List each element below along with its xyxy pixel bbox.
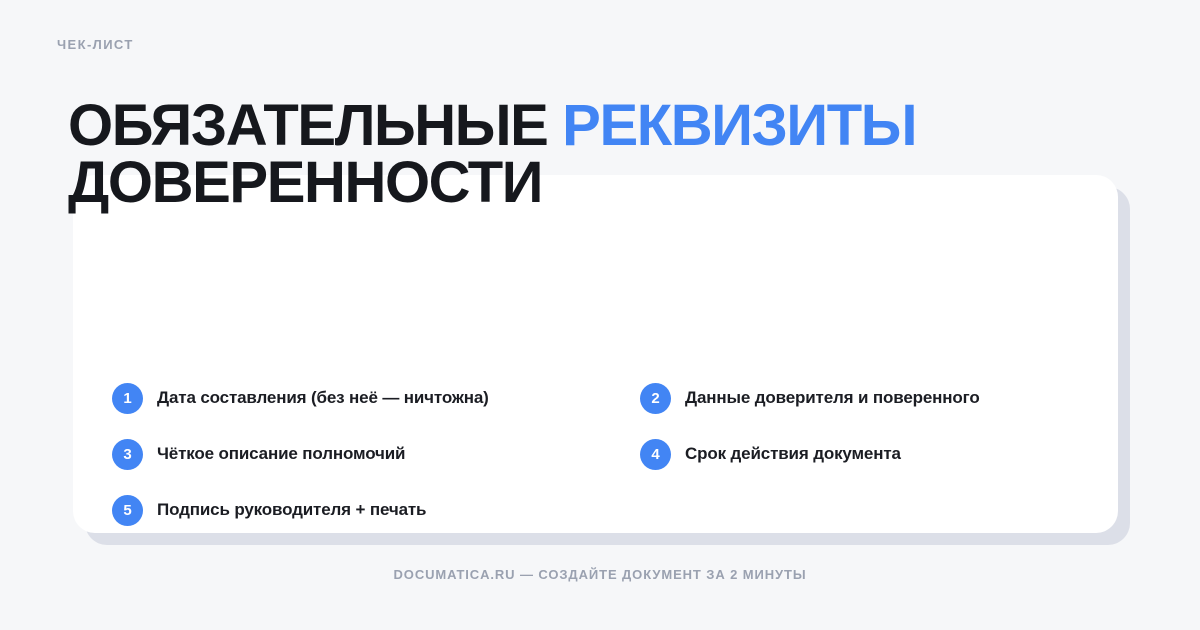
item-number-badge: 3 <box>112 439 143 470</box>
list-item: 5 Подпись руководителя + печать <box>112 495 426 526</box>
list-item-label: Подпись руководителя + печать <box>157 500 426 520</box>
title-part-1: ОБЯЗАТЕЛЬНЫЕ <box>68 93 562 158</box>
item-number-badge: 5 <box>112 495 143 526</box>
checklist-poster: ЧЕК-ЛИСТ ОБЯЗАТЕЛЬНЫЕ РЕКВИЗИТЫДОВЕРЕННО… <box>0 0 1200 630</box>
checklist-list: 1 Дата составления (без неё — ничтожна) … <box>73 175 1118 533</box>
item-number-badge: 2 <box>640 383 671 414</box>
item-number-badge: 4 <box>640 439 671 470</box>
list-item: 2 Данные доверителя и поверенного <box>640 383 980 414</box>
list-item-label: Срок действия документа <box>685 444 901 464</box>
item-number-badge: 1 <box>112 383 143 414</box>
list-item: 4 Срок действия документа <box>640 439 901 470</box>
eyebrow-label: ЧЕК-ЛИСТ <box>57 38 134 51</box>
list-item: 3 Чёткое описание полномочий <box>112 439 405 470</box>
footer-text: DOCUMATICA.RU — СОЗДАЙТЕ ДОКУМЕНТ ЗА 2 М… <box>0 568 1200 581</box>
checklist-card: 1 Дата составления (без неё — ничтожна) … <box>73 175 1118 533</box>
title-accent: РЕКВИЗИТЫ <box>562 93 916 158</box>
list-item-label: Данные доверителя и поверенного <box>685 388 980 408</box>
card-surface: 1 Дата составления (без неё — ничтожна) … <box>73 175 1118 533</box>
list-item: 1 Дата составления (без неё — ничтожна) <box>112 383 489 414</box>
list-item-label: Чёткое описание полномочий <box>157 444 405 464</box>
list-item-label: Дата составления (без неё — ничтожна) <box>157 388 489 408</box>
page-title: ОБЯЗАТЕЛЬНЫЕ РЕКВИЗИТЫДОВЕРЕННОСТИ <box>68 97 1148 212</box>
title-part-2: ДОВЕРЕННОСТИ <box>68 150 542 215</box>
